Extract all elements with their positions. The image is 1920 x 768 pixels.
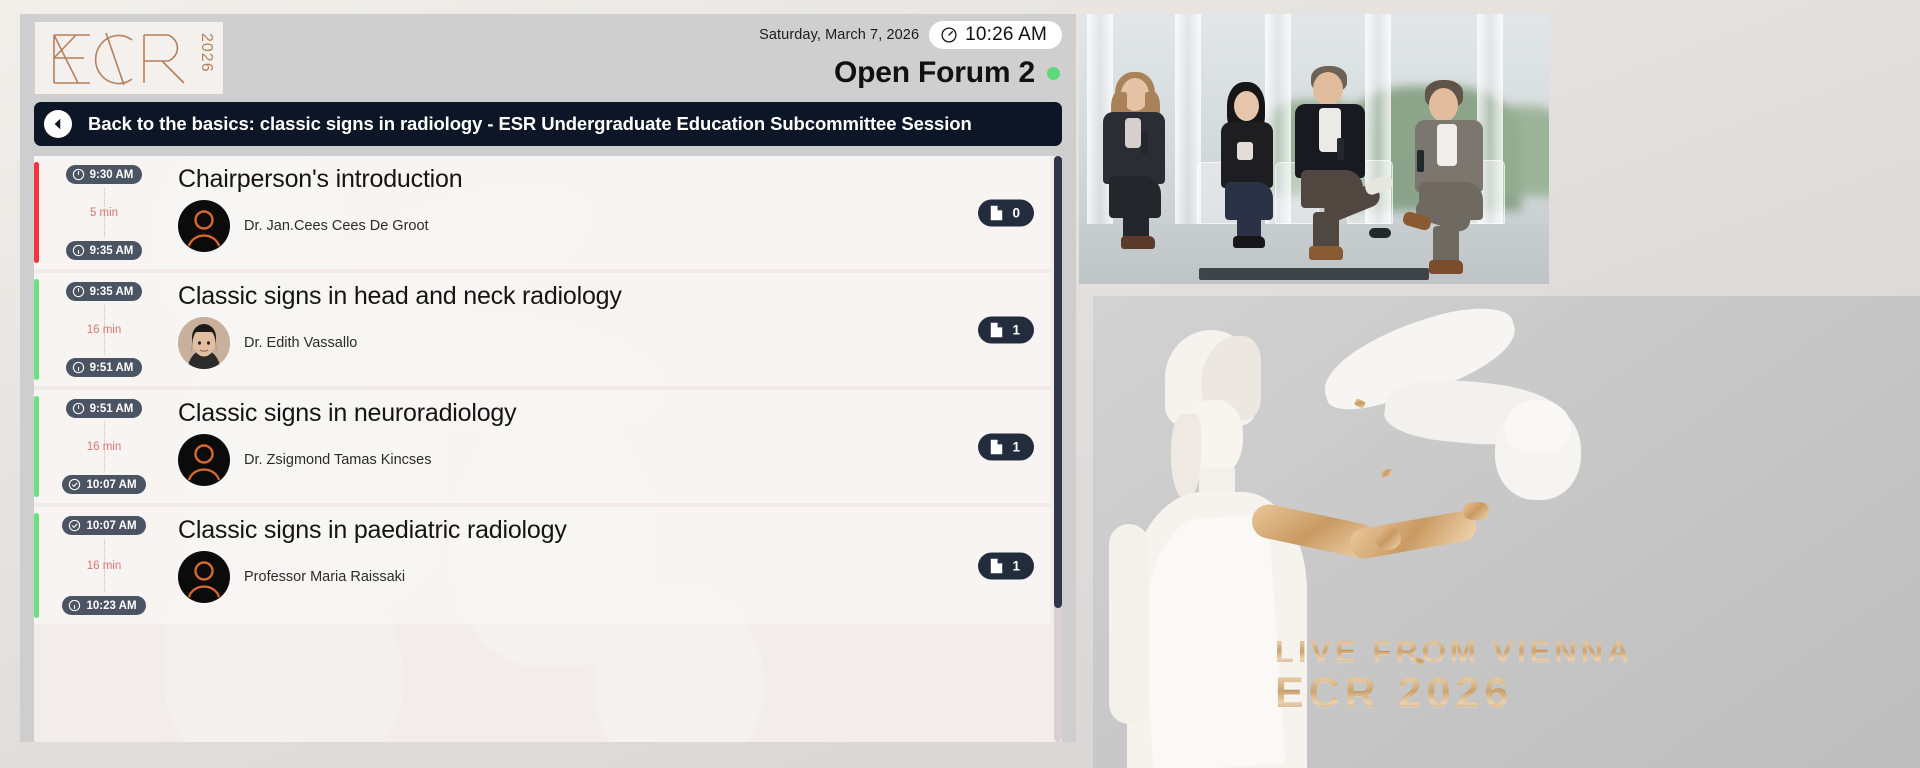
speaker-name: Dr. Zsigmond Tamas Kincses [244,452,432,468]
duration: 16 min [81,439,128,455]
video-stage-riser [1199,268,1429,280]
end-time-badge: 10:23 AM [62,596,145,615]
statue-golden-forearm [1347,509,1478,561]
session-programme-panel: 2026 Saturday, March 7, 2026 10:26 AM Op… [20,14,1076,742]
document-icon [989,321,1004,338]
row-title: Chairperson's introduction [178,166,1050,194]
avatar [178,200,230,252]
document-count: 0 [1012,205,1020,220]
document-count: 1 [1012,558,1020,573]
current-date: Saturday, March 7, 2026 [759,27,919,43]
start-time: 9:51 AM [90,403,134,415]
video-speaker [1215,82,1291,254]
start-time: 10:07 AM [86,520,136,532]
document-icon [989,557,1004,574]
promo-line-2: ECR 2026 [1275,671,1634,716]
channel-line: Open Forum 2 [759,56,1062,90]
end-time-badge: 10:07 AM [62,475,145,494]
duration: 5 min [84,205,124,221]
row-content: Classic signs in paediatric radiology Pr… [156,507,1050,624]
end-time: 9:35 AM [90,245,134,257]
person-placeholder-icon [178,434,230,486]
row-title: Classic signs in neuroradiology [178,400,1050,428]
video-speaker [1411,80,1511,276]
gold-fleck [1414,656,1425,667]
person-placeholder-icon [178,200,230,252]
document-icon [989,204,1004,221]
session-row[interactable]: 9:51 AM 16 min 10:07 AM Classic signs in… [34,390,1050,507]
time-column: 9:30 AM 5 min 9:35 AM [52,156,156,269]
row-status-accent [34,162,39,263]
document-count-badge[interactable]: 1 [978,316,1034,343]
list-scrollbar-thumb[interactable] [1054,156,1062,608]
session-row[interactable]: 9:35 AM 16 min 9:51 AM Classic signs in … [34,273,1050,390]
start-time-badge: 9:35 AM [66,282,143,301]
speaker-name: Professor Maria Raissaki [244,569,405,585]
datetime-line: Saturday, March 7, 2026 10:26 AM [759,20,1062,50]
session-row[interactable]: 10:07 AM 16 min 10:23 AM Classic signs i… [34,507,1050,624]
document-count: 1 [1012,439,1020,454]
row-content: Classic signs in neuroradiology Dr. Zsig… [156,390,1050,503]
person-placeholder-icon [178,551,230,603]
avatar [178,434,230,486]
statue-golden-hand [1375,526,1401,550]
speaker-name: Dr. Jan.Cees Cees De Groot [244,218,429,234]
end-time: 10:07 AM [86,479,136,491]
start-time: 9:35 AM [90,286,134,298]
statue-left-arm [1109,524,1149,724]
gold-fleck [1380,469,1392,478]
panel-header: 2026 Saturday, March 7, 2026 10:26 AM Op… [20,14,1076,102]
avatar [178,551,230,603]
current-time-badge: 10:26 AM [929,21,1062,49]
document-icon [989,438,1004,455]
clock-start-icon [72,402,85,415]
stream-panel: LIVE FROM VIENNA ECR 2026 [1079,14,1920,768]
row-content: Chairperson's introduction Dr. Jan.Cees … [156,156,1050,269]
duration: 16 min [81,558,128,574]
live-stream-video[interactable] [1079,14,1549,284]
end-time-badge: 9:51 AM [66,358,143,377]
time-column: 9:35 AM 16 min 9:51 AM [52,273,156,386]
row-status-accent [34,279,39,380]
document-count-badge[interactable]: 1 [978,552,1034,579]
clock-start-icon [72,285,85,298]
speaker-name: Dr. Edith Vassallo [244,335,357,351]
ecr-logo: 2026 [35,22,223,94]
speaker-photo [178,317,230,369]
document-count: 1 [1012,322,1020,337]
clock-end-icon [72,244,85,257]
session-title-bar[interactable]: Back to the basics: classic signs in rad… [34,102,1062,146]
statue-hair [1171,414,1201,500]
clock-end-icon [68,599,81,612]
start-time-badge: 10:07 AM [62,516,145,535]
time-column: 9:51 AM 16 min 10:07 AM [52,390,156,503]
speaker-line: Dr. Jan.Cees Cees De Groot [178,200,1050,252]
row-status-accent [34,513,39,618]
speaker-line: Dr. Edith Vassallo [178,317,1050,369]
row-content: Classic signs in head and neck radiology [156,273,1050,386]
programme-list: 9:30 AM 5 min 9:35 AM Chairperson's intr… [34,156,1062,742]
logo-year-text: 2026 [198,33,214,73]
back-button[interactable] [44,110,72,138]
session-row[interactable]: 9:30 AM 5 min 9:35 AM Chairperson's intr… [34,156,1050,273]
end-time: 10:23 AM [86,600,136,612]
header-right-cluster: Saturday, March 7, 2026 10:26 AM Open Fo… [759,20,1062,90]
current-time: 10:26 AM [965,24,1047,46]
document-count-badge[interactable]: 0 [978,199,1034,226]
speaker-line: Professor Maria Raissaki [178,551,1050,603]
duration: 16 min [81,322,128,338]
clock-icon [940,26,958,44]
promo-artwork: LIVE FROM VIENNA ECR 2026 [1093,296,1920,768]
clock-start-icon [72,168,85,181]
live-status-dot [1047,67,1060,80]
video-speaker [1099,72,1185,252]
video-floor-mic [1369,228,1391,238]
end-time-badge: 9:35 AM [66,241,143,260]
channel-title: Open Forum 2 [834,56,1035,90]
row-status-accent [34,396,39,497]
owl-talon [1463,502,1489,520]
clock-end-icon [72,361,85,374]
row-title: Classic signs in paediatric radiology [178,517,1050,545]
clock-end-icon [68,478,81,491]
owl-head [1505,400,1571,454]
programme-list-viewport: 9:30 AM 5 min 9:35 AM Chairperson's intr… [34,156,1062,742]
promo-line-1: LIVE FROM VIENNA [1275,636,1634,669]
ecr-logo-svg: 2026 [44,27,214,89]
row-title: Classic signs in head and neck radiology [178,283,1050,311]
start-time: 9:30 AM [90,169,134,181]
speaker-line: Dr. Zsigmond Tamas Kincses [178,434,1050,486]
document-count-badge[interactable]: 1 [978,433,1034,460]
start-time-badge: 9:30 AM [66,165,143,184]
start-time-badge: 9:51 AM [66,399,143,418]
list-scrollbar-track[interactable] [1054,156,1062,742]
session-title: Back to the basics: classic signs in rad… [88,113,972,135]
time-column: 10:07 AM 16 min 10:23 AM [52,507,156,624]
promo-text: LIVE FROM VIENNA ECR 2026 [1275,636,1634,716]
avatar [178,317,230,369]
back-arrow-icon [49,115,67,133]
clock-start-icon [68,519,81,532]
end-time: 9:51 AM [90,362,134,374]
